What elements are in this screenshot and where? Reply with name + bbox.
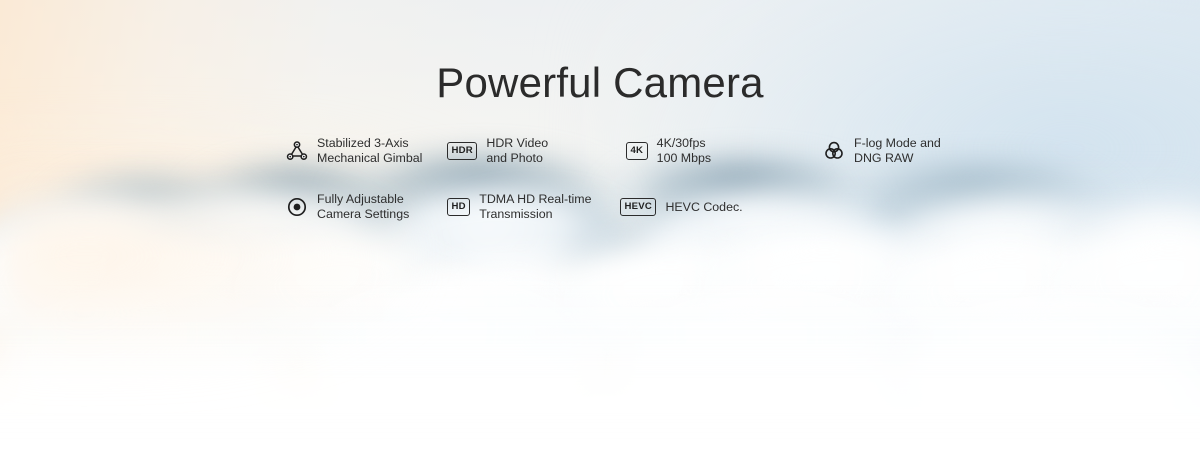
hdr-badge-label: HDR bbox=[447, 142, 477, 160]
feature-item-hdr[interactable]: HDR HDR Videoand Photo bbox=[447, 136, 548, 166]
feature-label-line2: Camera Settings bbox=[317, 207, 409, 221]
feature-label-line1: HDR Video bbox=[486, 136, 548, 150]
gimbal-icon bbox=[286, 136, 308, 166]
feature-label-line2: DNG RAW bbox=[854, 151, 913, 165]
feature-label: TDMA HD Real-timeTransmission bbox=[479, 192, 591, 222]
feature-label-line2: Transmission bbox=[479, 207, 552, 221]
feature-label-line1: Fully Adjustable bbox=[317, 192, 404, 206]
feature-label: HDR Videoand Photo bbox=[486, 136, 548, 166]
camera-settings-target-icon bbox=[286, 192, 308, 222]
feature-label-line2: 100 Mbps bbox=[657, 151, 711, 165]
feature-label: F-log Mode andDNG RAW bbox=[854, 136, 941, 166]
feature-label: HEVC Codec. bbox=[665, 200, 742, 215]
hdr-badge-icon: HDR bbox=[447, 136, 477, 166]
feature-label-line1: TDMA HD Real-time bbox=[479, 192, 591, 206]
feature-list: Stabilized 3-AxisMechanical Gimbal HDR H… bbox=[286, 136, 986, 248]
4k-badge-label: 4K bbox=[626, 142, 648, 160]
feature-label: 4K/30fps100 Mbps bbox=[657, 136, 711, 166]
feature-label: Fully AdjustableCamera Settings bbox=[317, 192, 409, 222]
hevc-badge-icon: HEVC bbox=[620, 192, 656, 222]
feature-item-tdma-hd[interactable]: HD TDMA HD Real-timeTransmission bbox=[447, 192, 591, 222]
feature-item-hevc[interactable]: HEVC HEVC Codec. bbox=[620, 192, 743, 222]
feature-item-camera-settings[interactable]: Fully AdjustableCamera Settings bbox=[286, 192, 409, 222]
feature-item-flog[interactable]: F-log Mode andDNG RAW bbox=[823, 136, 941, 166]
hd-badge-icon: HD bbox=[447, 192, 470, 222]
feature-label-line1: F-log Mode and bbox=[854, 136, 941, 150]
feature-label-line1: 4K/30fps bbox=[657, 136, 706, 150]
feature-label-line2: Mechanical Gimbal bbox=[317, 151, 422, 165]
flog-color-circles-icon bbox=[823, 136, 845, 166]
feature-item-4k[interactable]: 4K 4K/30fps100 Mbps bbox=[626, 136, 711, 166]
feature-label-line1: Stabilized 3-Axis bbox=[317, 136, 409, 150]
feature-item-gimbal[interactable]: Stabilized 3-AxisMechanical Gimbal bbox=[286, 136, 422, 166]
feature-row: Stabilized 3-AxisMechanical Gimbal HDR H… bbox=[286, 136, 986, 192]
powerful-camera-hero-banner: Powerful Camera bbox=[0, 0, 1200, 469]
feature-label: Stabilized 3-AxisMechanical Gimbal bbox=[317, 136, 422, 166]
feature-label-line2: and Photo bbox=[486, 151, 543, 165]
hevc-badge-label: HEVC bbox=[620, 198, 656, 216]
hd-badge-label: HD bbox=[447, 198, 470, 216]
4k-badge-icon: 4K bbox=[626, 136, 648, 166]
feature-row: Fully AdjustableCamera Settings HD TDMA … bbox=[286, 192, 986, 248]
hero-content: Powerful Camera bbox=[0, 0, 1200, 469]
page-title: Powerful Camera bbox=[0, 62, 1200, 104]
